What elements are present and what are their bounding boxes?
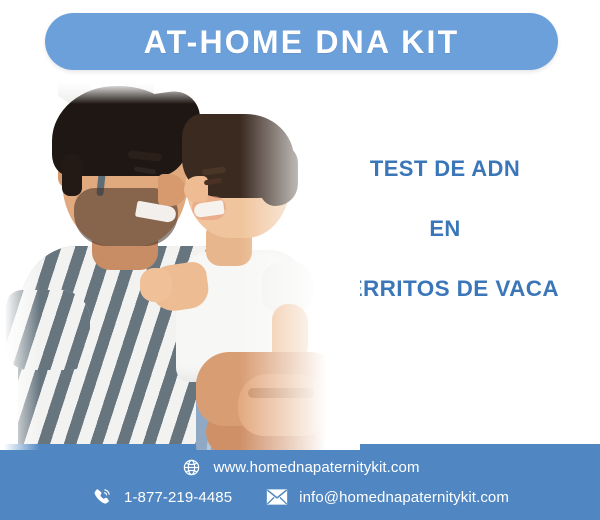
email-contact[interactable]: info@homednapaternitykit.com — [266, 486, 509, 508]
page-title: AT-HOME DNA KIT — [144, 26, 460, 58]
man-sideburn — [62, 154, 82, 196]
globe-icon — [180, 456, 202, 478]
photo-canvas — [0, 78, 360, 450]
child-fringe — [184, 136, 214, 170]
photo-fade-left — [0, 78, 40, 450]
website-contact[interactable]: www.homednapaternitykit.com — [180, 456, 419, 478]
footer-row-phone-email: 1-877-219-4485 info@homednapaternitykit.… — [0, 486, 600, 508]
man-nose — [158, 174, 186, 206]
child-hand — [140, 268, 172, 302]
envelope-icon — [266, 486, 288, 508]
contact-footer: www.homednapaternitykit.com 1-877-219-44… — [0, 444, 600, 520]
promo-poster: AT-HOME DNA KIT — [0, 0, 600, 520]
phone-label: 1-877-219-4485 — [124, 490, 232, 505]
father-holding-toddler-photo — [0, 78, 360, 450]
phone-icon — [91, 486, 113, 508]
photo-fade-right — [240, 78, 360, 450]
header-banner: AT-HOME DNA KIT — [45, 13, 558, 70]
footer-row-website: www.homednapaternitykit.com — [0, 456, 600, 478]
phone-contact[interactable]: 1-877-219-4485 — [91, 486, 232, 508]
email-label: info@homednapaternitykit.com — [299, 490, 509, 505]
website-label: www.homednapaternitykit.com — [213, 460, 419, 475]
